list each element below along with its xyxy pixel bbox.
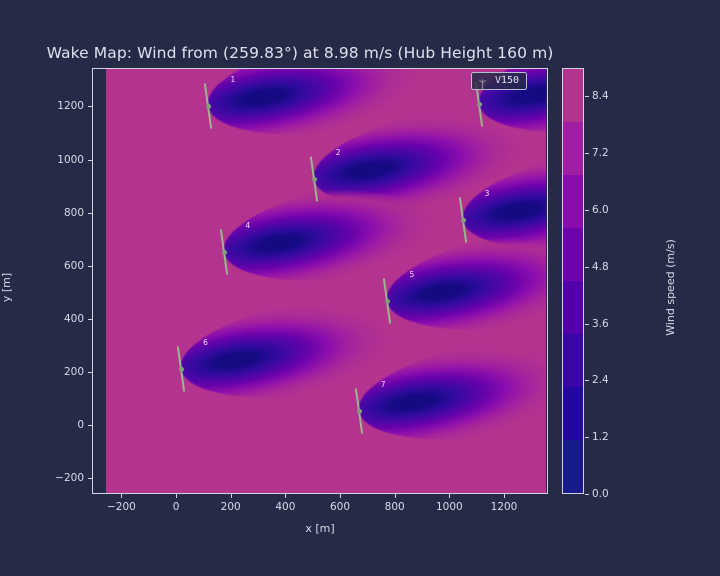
wind-turbine-icon [477,75,488,86]
x-axis-tick-label: 1200 [491,501,518,513]
y-axis-tick [88,372,92,373]
colorbar-tick [585,494,589,495]
colorbar-tick [585,210,589,211]
x-axis-tick-label: 1000 [436,501,463,513]
turbine-label: 4 [246,221,251,230]
y-axis-tick [88,106,92,107]
y-axis-label: y [m] [0,273,13,302]
x-axis-tick [340,494,341,498]
colorbar-band [563,281,583,334]
y-axis-tick [88,160,92,161]
y-axis-tick [88,478,92,479]
page-title: Wake Map: Wind from (259.83°) at 8.98 m/… [0,44,600,62]
x-axis-tick-label: 800 [385,501,405,513]
y-axis-tick-label: 400 [64,313,84,325]
colorbar-tick-label: 7.2 [592,147,609,159]
x-axis-tick-label: 200 [221,501,241,513]
legend[interactable]: V150 [471,72,527,90]
wake-map-figure: Wake Map: Wind from (259.83°) at 8.98 m/… [0,0,720,576]
y-axis-tick [88,319,92,320]
y-axis-tick-label: −200 [55,472,84,484]
x-axis-tick [395,494,396,498]
y-axis-tick-label: 1200 [57,100,84,112]
colorbar-band [563,387,583,440]
x-axis-tick [176,494,177,498]
y-axis-tick-label: 0 [77,419,84,431]
colorbar-band [563,334,583,387]
y-axis-tick-label: 200 [64,366,84,378]
turbine-nacelle [476,101,482,107]
colorbar-tick-label: 4.8 [592,261,609,273]
colorbar-tick-label: 1.2 [592,431,609,443]
turbine-label: 3 [485,189,490,198]
colorbar-band [563,228,583,281]
y-axis-tick-label: 800 [64,207,84,219]
colorbar [562,68,584,494]
x-axis-tick-label: 600 [330,501,350,513]
plot-area: 01234567 [92,68,548,494]
x-axis-tick [504,494,505,498]
turbine-label: 7 [381,380,386,389]
x-axis-tick [231,494,232,498]
y-axis-tick [88,425,92,426]
y-axis-tick [88,213,92,214]
x-axis-tick-label: −200 [107,501,136,513]
x-axis-tick-label: 0 [173,501,180,513]
colorbar-tick-label: 3.6 [592,318,609,330]
wake-field: 01234567 [106,69,546,494]
x-axis-tick [449,494,450,498]
x-axis-tick [285,494,286,498]
colorbar-tick [585,96,589,97]
turbine-label: 1 [230,75,235,84]
x-axis-tick-label: 400 [275,501,295,513]
y-axis-tick-label: 600 [64,260,84,272]
turbine-label: 6 [203,338,208,347]
colorbar-band [563,440,583,493]
colorbar-tick-label: 2.4 [592,374,609,386]
colorbar-tick [585,267,589,268]
colorbar-tick-label: 6.0 [592,204,609,216]
colorbar-label: Wind speed (m/s) [664,239,677,336]
x-axis-label: x [m] [92,522,548,535]
colorbar-band [563,122,583,175]
turbine-label: 5 [409,270,414,279]
colorbar-tick [585,153,589,154]
colorbar-band [563,175,583,228]
colorbar-tick [585,437,589,438]
colorbar-tick [585,324,589,325]
colorbar-tick [585,380,589,381]
y-axis-tick-label: 1000 [57,154,84,166]
legend-entry-label: V150 [495,75,519,86]
turbine-label: 2 [336,148,341,157]
x-axis-tick [121,494,122,498]
colorbar-tick-label: 8.4 [592,90,609,102]
colorbar-band [563,69,583,122]
y-axis-tick [88,266,92,267]
colorbar-tick-label: 0.0 [592,488,609,500]
